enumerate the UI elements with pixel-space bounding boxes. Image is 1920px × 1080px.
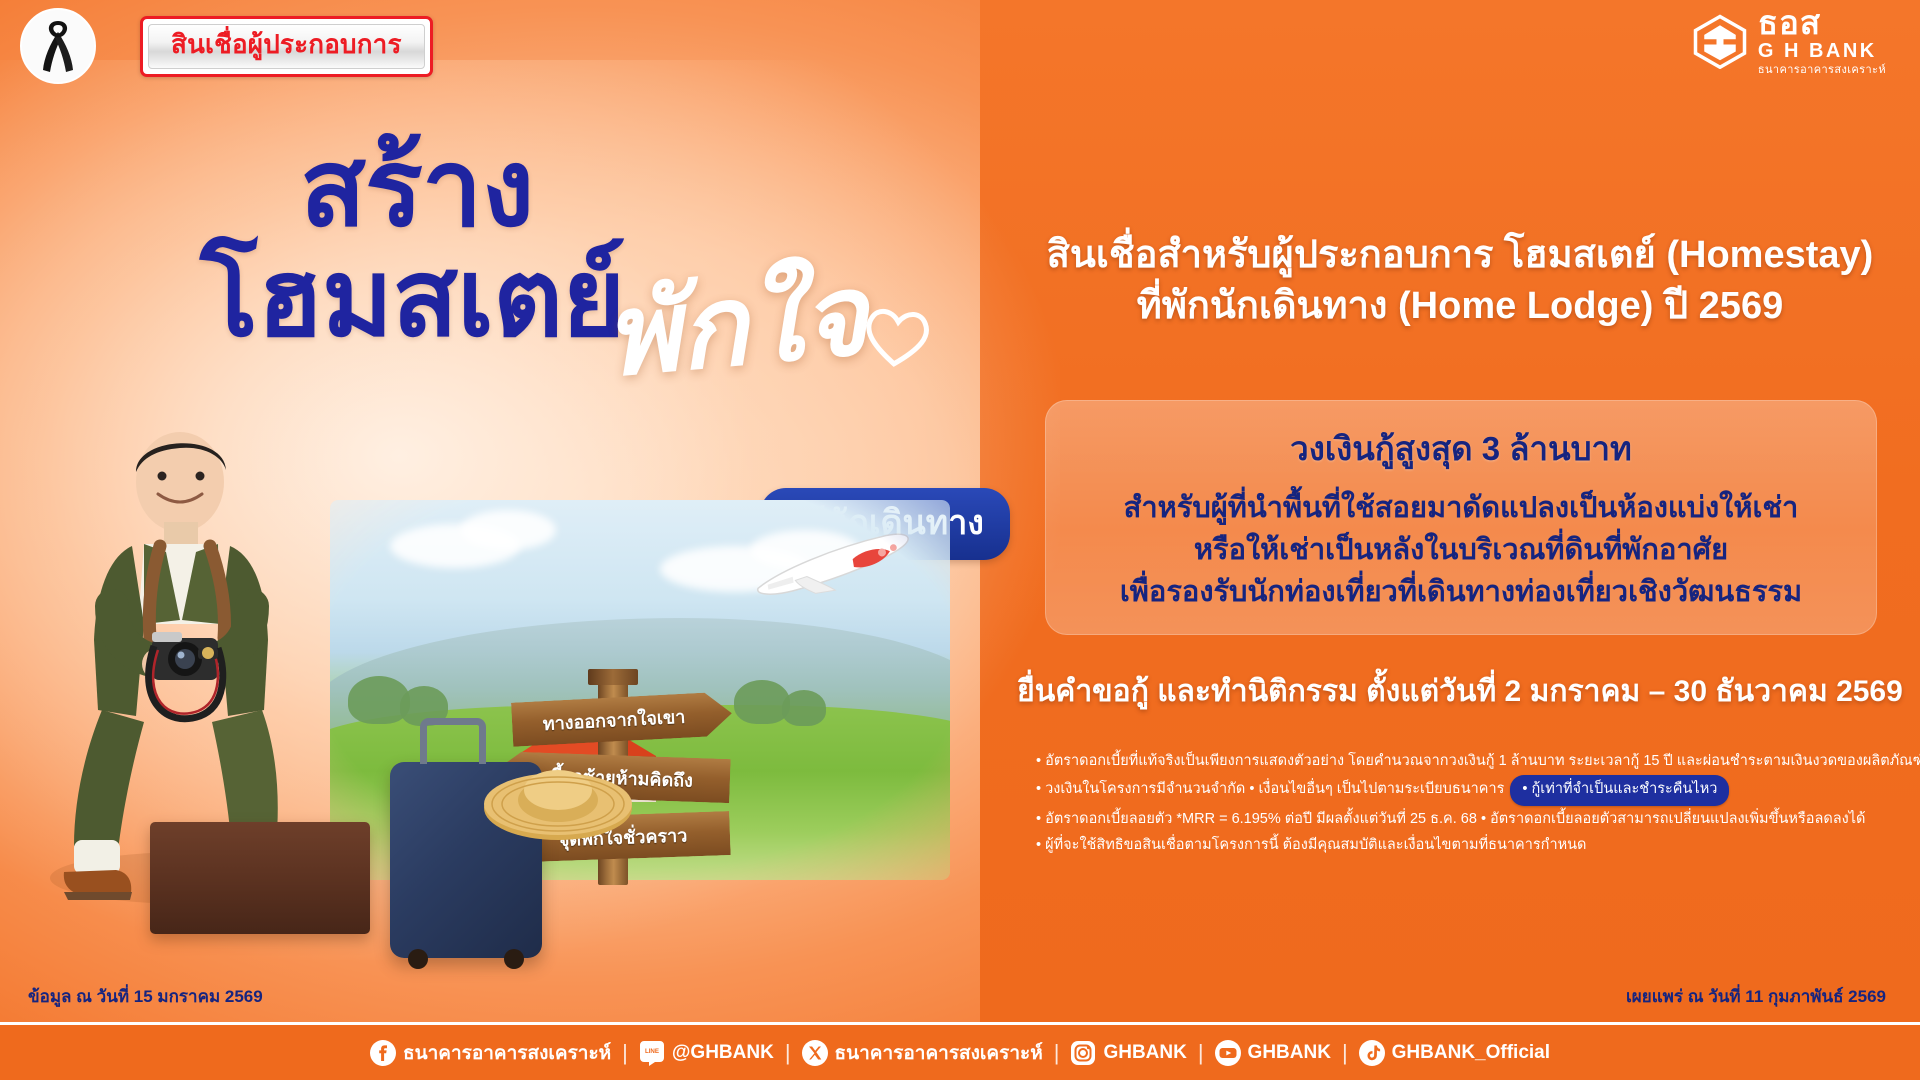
panel-title: สินเชื่อสำหรับผู้ประกอบการ โฮมสเตย์ (Hom…: [1000, 230, 1920, 333]
headline-script-word: พักใจ: [601, 259, 872, 393]
facebook-icon: [370, 1040, 396, 1066]
social-separator-2: |: [785, 1040, 791, 1066]
social-tiktok[interactable]: GHBANK_Official: [1359, 1040, 1550, 1066]
signpost-arrow-1: ทางออกจากใจเขา: [511, 691, 733, 746]
svg-text:LINE: LINE: [645, 1048, 659, 1055]
data-as-of-note: ข้อมูล ณ วันที่ 15 มกราคม 2569: [28, 983, 263, 1010]
panel-title-line-2: ที่พักนักเดินทาง (Home Lodge) ปี 2569: [1000, 281, 1920, 332]
loan-info-card: วงเงินกู้สูงสุด 3 ล้านบาท สำหรับผู้ที่นำ…: [1045, 400, 1877, 635]
mourning-ribbon-badge: [20, 8, 96, 84]
panel-title-line-1: สินเชื่อสำหรับผู้ประกอบการ โฮมสเตย์ (Hom…: [1000, 230, 1920, 281]
fineprint-line-1: • อัตราดอกเบี้ยที่แท้จริงเป็นเพียงการแสด…: [1036, 748, 1896, 775]
line-icon: LINE: [639, 1040, 665, 1066]
suitcase-icon: [150, 822, 370, 934]
luggage-handle: [420, 718, 486, 764]
fineprint-line-3: • อัตราดอกเบี้ยลอยตัว *MRR = 6.195% ต่อป…: [1036, 806, 1896, 833]
social-line[interactable]: LINE @GHBANK: [639, 1040, 774, 1066]
social-separator-1: |: [622, 1040, 628, 1066]
tiktok-icon: [1359, 1040, 1385, 1066]
social-tiktok-label: GHBANK_Official: [1392, 1042, 1550, 1064]
social-line-label: @GHBANK: [672, 1042, 774, 1064]
social-separator-4: |: [1198, 1040, 1204, 1066]
youtube-icon: [1215, 1040, 1241, 1066]
promo-banner: สินเชื่อผู้ประกอบการ ธอส G H BANK ธนาคาร…: [0, 0, 1920, 1080]
social-facebook-label: ธนาคารอาคารสงเคราะห์: [403, 1038, 611, 1068]
right-info-panel: สินเชื่อสำหรับผู้ประกอบการ โฮมสเตย์ (Hom…: [1000, 0, 1920, 1022]
social-instagram[interactable]: GHBANK: [1070, 1040, 1186, 1066]
headline-line-2: โฮมสเตย์: [200, 248, 624, 347]
luggage-wheel-left: [408, 949, 428, 969]
x-twitter-icon: [802, 1040, 828, 1066]
social-x-label: ธนาคารอาคารสงเคราะห์: [835, 1038, 1043, 1068]
fineprint-line-2: • วงเงินในโครงการมีจำนวนจำกัด • เงื่อนไข…: [1036, 781, 1504, 797]
hero-illustration-scene: ทางออกจากใจเขา เลี้ยวซ้ายห้ามคิดถึง จุดพ…: [30, 500, 970, 920]
loan-limit-heading: วงเงินกู้สูงสุด 3 ล้านบาท: [1073, 422, 1849, 475]
social-youtube-label: GHBANK: [1248, 1042, 1331, 1064]
fineprint-line-4: • ผู้ที่จะใช้สิทธิขอสินเชื่อตามโครงการนี…: [1036, 832, 1896, 859]
published-on-note: เผยแพร่ ณ วันที่ 11 กุมภาพันธ์ 2569: [1626, 983, 1886, 1010]
application-period: ยื่นคำขอกู้ และทำนิติกรรม ตั้งแต่วันที่ …: [1000, 668, 1920, 715]
category-badge-label: สินเชื่อผู้ประกอบการ: [148, 24, 425, 69]
straw-hat-icon: [482, 746, 634, 842]
fineprint-line-2-wrap: • วงเงินในโครงการมีจำนวนจำกัด • เงื่อนไข…: [1036, 775, 1896, 806]
footer-bar: ธนาคารอาคารสงเคราะห์ | LINE @GHBANK | ธน…: [0, 1025, 1920, 1080]
loan-description-line-1: สำหรับผู้ที่นำพื้นที่ใช้สอยมาดัดแปลงเป็น…: [1073, 487, 1849, 529]
black-ribbon-icon: [36, 18, 80, 74]
social-youtube[interactable]: GHBANK: [1215, 1040, 1331, 1066]
category-badge: สินเชื่อผู้ประกอบการ: [140, 16, 433, 77]
borrow-responsibly-pill: • กู้เท่าที่จำเป็นและชำระคืนไหว: [1510, 775, 1729, 806]
luggage-wheel-right: [504, 949, 524, 969]
social-links: ธนาคารอาคารสงเคราะห์ | LINE @GHBANK | ธน…: [370, 1038, 1550, 1068]
social-instagram-label: GHBANK: [1103, 1042, 1186, 1064]
loan-description: สำหรับผู้ที่นำพื้นที่ใช้สอยมาดัดแปลงเป็น…: [1073, 487, 1849, 613]
social-x[interactable]: ธนาคารอาคารสงเคราะห์: [802, 1038, 1043, 1068]
social-separator-3: |: [1054, 1040, 1060, 1066]
headline-line-1: สร้าง: [300, 138, 533, 237]
heart-outline-icon: [857, 296, 938, 373]
social-facebook[interactable]: ธนาคารอาคารสงเคราะห์: [370, 1038, 611, 1068]
fineprint-block: • อัตราดอกเบี้ยที่แท้จริงเป็นเพียงการแสด…: [1036, 748, 1896, 859]
loan-description-line-2: หรือให้เช่าเป็นหลังในบริเวณที่ดินที่พักอ…: [1073, 529, 1849, 571]
social-separator-5: |: [1342, 1040, 1348, 1066]
instagram-icon: [1070, 1040, 1096, 1066]
signpost-cap: [588, 669, 638, 685]
loan-description-line-3: เพื่อรองรับนักท่องเที่ยวที่เดินทางท่องเท…: [1073, 571, 1849, 613]
